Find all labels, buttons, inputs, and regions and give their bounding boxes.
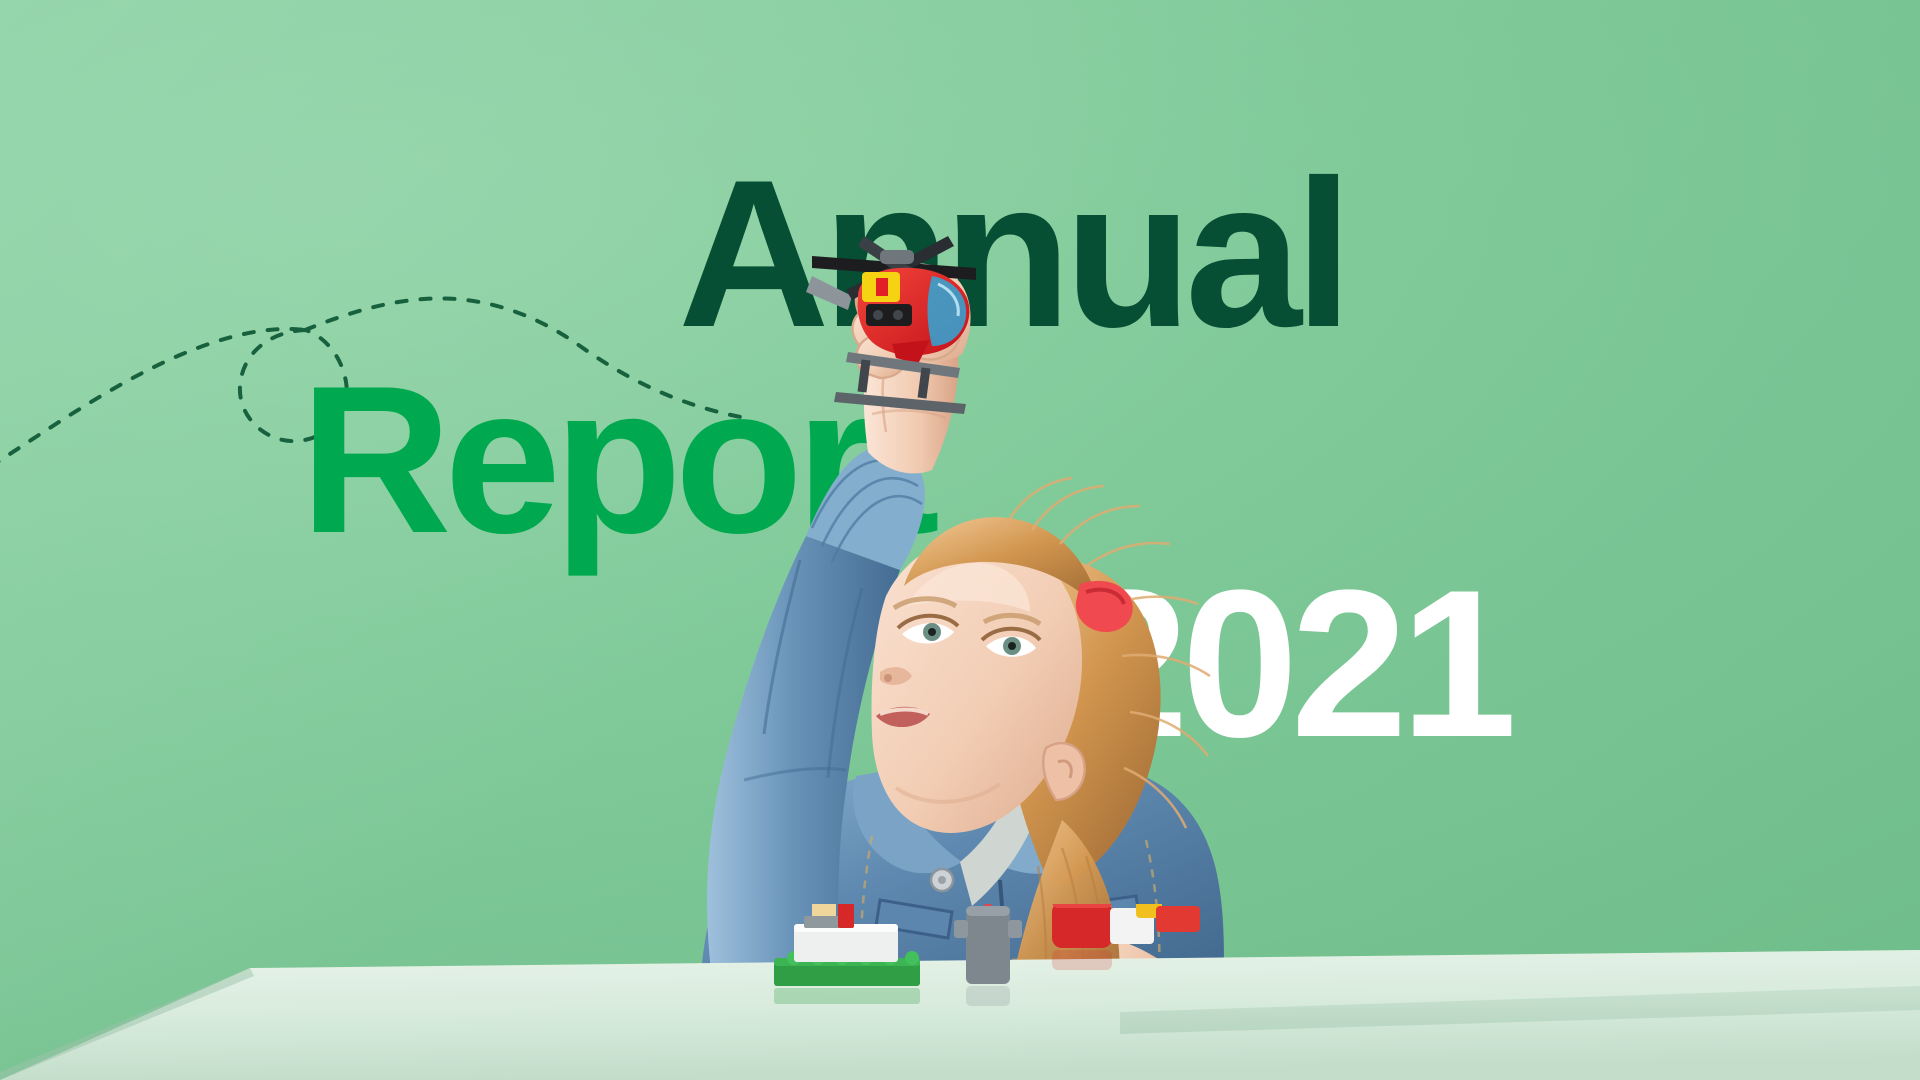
annual-report-cover: Annual Report 2021 — [0, 0, 1920, 1080]
headline-line-annual: Annual — [678, 168, 1346, 340]
headline-line-year: 2021 — [1072, 578, 1510, 750]
headline-line-report: Report — [300, 374, 933, 546]
